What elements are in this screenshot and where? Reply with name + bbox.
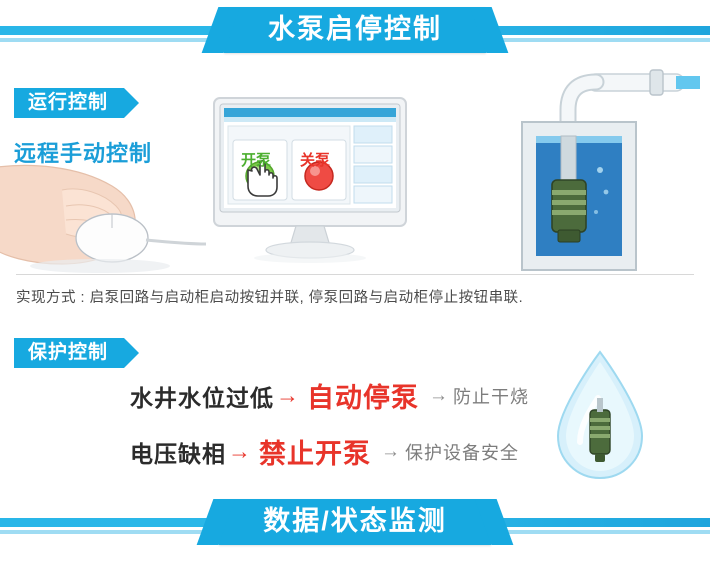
protection-row: 水井水位过低 → 自动停泵 → 防止干烧 <box>130 376 529 415</box>
monitor-start-button-label[interactable]: 开泵 <box>241 149 271 170</box>
note-divider <box>16 274 694 275</box>
protection-condition: 水井水位过低 <box>130 379 274 413</box>
hand-icon <box>0 160 230 280</box>
bottom-banner: 数据/状态监测 <box>0 500 710 544</box>
run-control-tag: 运行控制 <box>14 88 124 118</box>
desktop-monitor-icon: 开泵 关泵 <box>200 96 420 266</box>
protect-control-tag: 保护控制 <box>14 338 124 368</box>
arrow-right-icon: → <box>228 438 251 465</box>
bottom-banner-title: 数据/状态监测 <box>219 499 491 545</box>
protection-effect: 保护设备安全 <box>405 439 519 465</box>
top-banner: 水泵启停控制 <box>0 8 710 52</box>
infographic-canvas: 水泵启停控制 运行控制 远程手动控制 <box>0 0 710 564</box>
arrow-right-icon: → <box>276 382 299 409</box>
monitor-stop-button-label[interactable]: 关泵 <box>300 149 330 170</box>
water-droplet-icon <box>540 346 660 486</box>
top-banner-title: 水泵启停控制 <box>224 7 486 53</box>
protection-effect: 防止干烧 <box>453 383 529 409</box>
protection-condition: 电压缺相 <box>130 435 226 469</box>
protection-action: 禁止开泵 <box>259 432 371 471</box>
arrow-right-secondary-icon: → <box>381 441 400 463</box>
protection-action: 自动停泵 <box>307 376 419 415</box>
computer-mouse-icon <box>76 214 206 262</box>
water-well-pump-icon <box>500 60 700 275</box>
implementation-note: 实现方式 : 启泵回路与启动柜启动按钮并联, 停泵回路与启动柜停止按钮串联. <box>16 286 523 307</box>
arrow-right-secondary-icon: → <box>429 385 448 407</box>
protection-row: 电压缺相 → 禁止开泵 → 保护设备安全 <box>130 432 519 471</box>
